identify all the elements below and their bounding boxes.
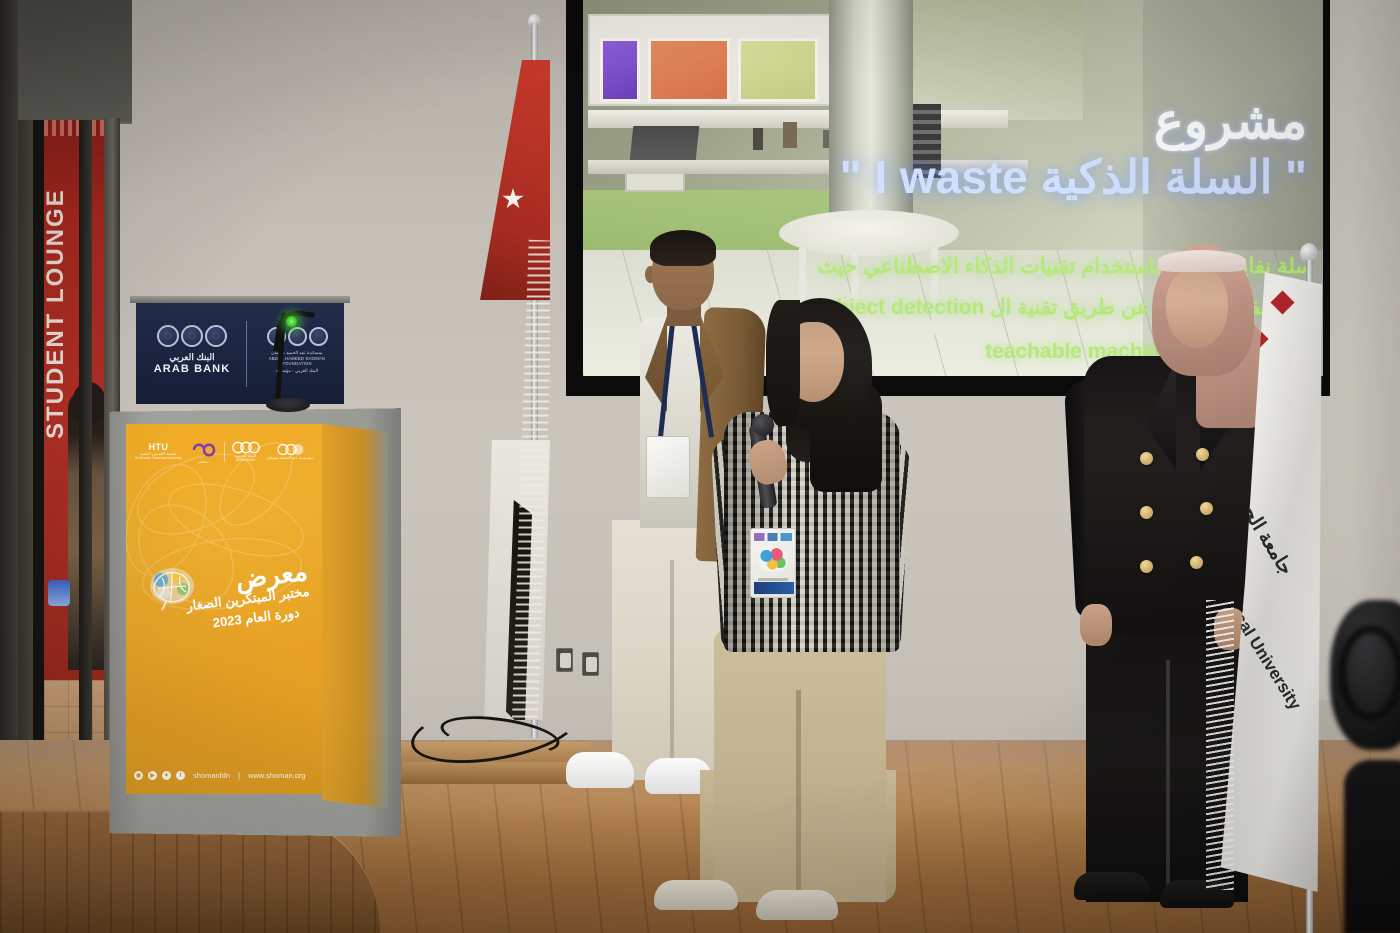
htu-logo: HTU جامعة الحسين التقنية Al Hussein Tech… — [135, 443, 182, 461]
jordan-flag — [480, 60, 550, 720]
badge-footer-bar — [754, 582, 794, 594]
lab-logo: مختبر — [188, 440, 218, 464]
infinity-loop-icon — [188, 440, 218, 460]
ceiling-blind-panel — [0, 0, 132, 124]
projected-panel-green — [738, 38, 818, 102]
blazer-button-1 — [1140, 452, 1153, 465]
arab-bank-name-en: ARAB BANK — [146, 363, 238, 375]
student-3-face — [1166, 268, 1228, 348]
instagram-icon[interactable]: ◉ — [134, 771, 143, 780]
ring-2 — [181, 325, 203, 347]
student-3-shoe-left — [1074, 872, 1150, 900]
arab-bank-block: البنك العربي ARAB BANK — [146, 325, 238, 375]
website-url: www.shoman.org — [248, 771, 306, 780]
logo-divider — [224, 442, 225, 462]
social-handle: shomanfdn — [193, 771, 230, 780]
shoman-partner-ar-2: البنك العربي - مؤسسة — [254, 368, 340, 374]
ring-3 — [205, 325, 227, 347]
htu-flag-fringe — [1206, 600, 1234, 890]
student-1-hair — [650, 230, 716, 266]
facebook-icon[interactable]: f — [176, 771, 185, 780]
ring-1 — [157, 325, 179, 347]
door-frame-mid — [79, 120, 92, 820]
shoman-partner-en: ABDUL HAMEED SHOMAN FOUNDATION — [254, 356, 340, 366]
projected-object-1 — [753, 128, 763, 150]
student-1-badge — [646, 436, 690, 498]
blazer-button-6 — [1190, 556, 1203, 569]
student-2-badge — [750, 528, 796, 598]
slide-title-line1: مشروع — [847, 92, 1307, 150]
student-3-hand-left — [1080, 604, 1112, 646]
podium-side-face — [322, 424, 388, 808]
lounge-wall-trim — [44, 120, 106, 136]
blazer-button-4 — [1196, 448, 1209, 461]
student-2-shoe-right — [756, 890, 838, 920]
student-3-trouser-seam — [1166, 660, 1170, 902]
youtube-icon[interactable]: ▶ — [148, 771, 157, 780]
badge-name-line — [758, 578, 788, 581]
banner-footer: ◉ ▶ ✦ f shomanfdn | www.shoman.org — [134, 771, 322, 780]
event-photo-scene: STUDENT LOUNGE مشروع " السلة ا — [0, 0, 1400, 933]
blazer-button-5 — [1200, 502, 1213, 515]
student-1-shoe-left — [566, 752, 634, 788]
wall-outlet-1 — [556, 648, 573, 672]
badge-brain-icon — [758, 546, 788, 572]
microphone-led-icon — [286, 316, 297, 327]
projected-panel-purple — [600, 38, 640, 102]
student-3-hijab-band — [1158, 250, 1246, 272]
sign-rail — [130, 296, 350, 303]
badge-logo-strip — [754, 533, 792, 541]
shoman-foundation-logo: مؤسسة عبد الحميد شومان — [266, 443, 313, 460]
footer-separator: | — [238, 771, 240, 780]
htu-diamond-1 — [1270, 290, 1294, 314]
student-2-hijab-front — [766, 300, 800, 426]
water-bottle — [48, 580, 70, 606]
student-1-blazer-left — [588, 309, 663, 559]
student-1-trouser-seam — [670, 560, 674, 780]
banner-logo-row: HTU جامعة الحسين التقنية Al Hussein Tech… — [126, 436, 322, 468]
projected-object-2 — [783, 122, 797, 148]
arab-bank-logo: البنك العربي ARAB BANK — [231, 441, 261, 463]
projected-tray — [625, 172, 685, 192]
sign-divider — [246, 321, 247, 387]
podium-front-banner: HTU جامعة الحسين التقنية Al Hussein Tech… — [126, 424, 322, 794]
camera-lens-ring — [1338, 625, 1400, 721]
arab-bank-rings-icon — [146, 325, 238, 347]
student-2-trouser-seam — [796, 690, 801, 902]
stage-riser-step-lower — [397, 762, 593, 784]
student-2-shoe-left — [654, 880, 738, 910]
twitter-icon[interactable]: ✦ — [162, 771, 171, 780]
door-frame-left — [16, 120, 33, 820]
camera-body-foreground — [1344, 760, 1400, 933]
slide-title-line2: " السلة الذكية I waste " — [827, 150, 1307, 205]
student-lounge-sign: STUDENT LOUNGE — [42, 249, 70, 439]
wall-outlet-2 — [582, 652, 599, 676]
blazer-button-3 — [1140, 560, 1153, 573]
blazer-button-2 — [1140, 506, 1153, 519]
arab-bank-name-ar: البنك العربي — [146, 352, 238, 363]
projected-panel-orange — [648, 38, 730, 102]
microphone-base — [266, 398, 310, 412]
